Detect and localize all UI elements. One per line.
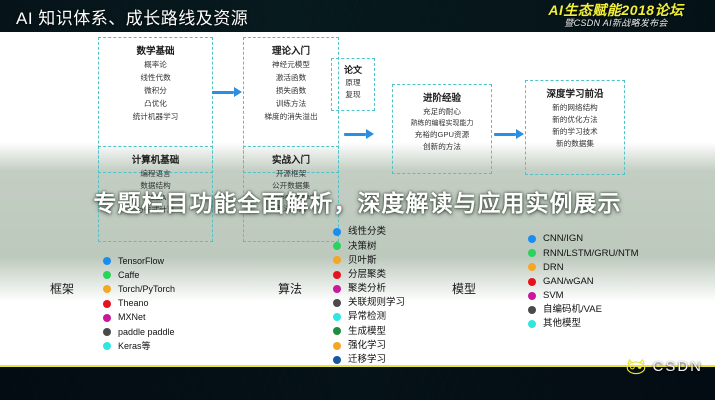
legend-dot-icon — [528, 306, 536, 314]
legend-dot-icon — [528, 235, 536, 243]
group-label-frameworks: 框架 — [50, 280, 74, 297]
forum-badge: AI生态赋能2018论坛 暨CSDN AI新战略发布会 — [523, 1, 709, 32]
legend-dot-icon — [333, 327, 341, 335]
flow-box-paper-reproduce: 论文 原理 复现 — [331, 58, 375, 111]
legend-item-label: MXNet — [118, 313, 146, 322]
flow-box-item: 训练方法 — [244, 100, 338, 108]
legend-item-label: Theano — [118, 299, 149, 308]
legend-item-label: 聚类分析 — [348, 284, 386, 294]
legend-dot-icon — [103, 271, 111, 279]
legend-dot-icon — [333, 299, 341, 307]
legend-dot-icon — [333, 228, 341, 236]
forum-subtitle: 暨CSDN AI新战略发布会 — [523, 19, 709, 28]
flow-box-item: 复现 — [332, 91, 374, 99]
legend-item-label: TensorFlow — [118, 257, 164, 266]
flow-box-item: 原理 — [332, 79, 374, 87]
flow-box-title: 实战入门 — [244, 152, 338, 166]
top-banner: AI 知识体系、成长路线及资源 AI生态赋能2018论坛 暨CSDN AI新战略… — [0, 0, 715, 32]
flow-box-deep-learning-frontier: 深度学习前沿 新的网络结构 新的优化方法 新的学习技术 新的数据集 — [525, 80, 625, 175]
legend-item: 关联规则学习 — [333, 296, 405, 310]
legend-item: 贝叶斯 — [333, 253, 405, 267]
legend-item-label: Torch/PyTorch — [118, 285, 175, 294]
legend-item-label: 迁移学习 — [348, 355, 386, 365]
csdn-logo: CSDN — [625, 358, 703, 375]
legend-item: SVM — [528, 289, 639, 303]
legend-dot-icon — [528, 320, 536, 328]
legend-item-label: 贝叶斯 — [348, 256, 377, 266]
csdn-cat-icon — [625, 359, 647, 375]
group-label-models: 模型 — [452, 280, 476, 297]
screenshot-root: AI 知识体系、成长路线及资源 AI生态赋能2018论坛 暨CSDN AI新战略… — [0, 0, 715, 400]
legend-item-label: Caffe — [118, 271, 139, 280]
legend-item: Caffe — [103, 268, 175, 282]
flow-box-title: 数学基础 — [99, 43, 212, 57]
legend-dot-icon — [333, 256, 341, 264]
flow-box-title: 论文 — [332, 63, 374, 76]
legend-item-label: 异常检测 — [348, 312, 386, 322]
arrow-math-to-theory — [212, 85, 242, 99]
legend-item: paddle paddle — [103, 325, 175, 339]
legend-models: CNN/IGNRNN/LSTM/GRU/NTMDRNGAN/wGANSVM自编码… — [528, 232, 639, 331]
legend-frameworks: TensorFlowCaffeTorch/PyTorchTheanoMXNetp… — [103, 254, 175, 353]
legend-dot-icon — [333, 313, 341, 321]
legend-item-label: 其他模型 — [543, 319, 581, 329]
legend-item: DRN — [528, 260, 639, 274]
flow-box-item: 新的数据集 — [526, 140, 624, 148]
flow-box-item: 梯度的消失溢出 — [244, 113, 338, 121]
flow-box-title: 理论入门 — [244, 43, 338, 57]
legend-item-label: Keras等 — [118, 342, 151, 351]
legend-item: Torch/PyTorch — [103, 282, 175, 296]
legend-dot-icon — [333, 271, 341, 279]
legend-item-label: RNN/LSTM/GRU/NTM — [543, 249, 639, 259]
flow-box-item: 新的网络结构 — [526, 104, 624, 112]
flow-box-item: 充足的耐心 — [393, 108, 491, 116]
legend-item-label: 关联规则学习 — [348, 298, 405, 308]
legend-item-label: paddle paddle — [118, 328, 175, 337]
legend-item: GAN/wGAN — [528, 275, 639, 289]
legend-item: 自编码机/VAE — [528, 303, 639, 317]
legend-item: 聚类分析 — [333, 282, 405, 296]
legend-item-label: SVM — [543, 291, 564, 301]
legend-dot-icon — [528, 249, 536, 257]
legend-item: 强化学习 — [333, 339, 405, 353]
legend-algorithms: 线性分类决策树贝叶斯分层聚类聚类分析关联规则学习异常检测生成模型强化学习迁移学习… — [333, 225, 405, 365]
legend-item-label: 强化学习 — [348, 341, 386, 351]
legend-item-label: CNN/IGN — [543, 234, 583, 244]
flow-box-item: 充裕的GPU资源 — [393, 131, 491, 139]
flow-box-title: 深度学习前沿 — [526, 86, 624, 100]
legend-item-label: DRN — [543, 263, 564, 273]
legend-dot-icon — [103, 285, 111, 293]
flow-box-title: 计算机基础 — [99, 152, 212, 166]
flow-box-item: 微积分 — [99, 87, 212, 95]
legend-item-label: 自编码机/VAE — [543, 305, 602, 315]
legend-item: Keras等 — [103, 339, 175, 353]
legend-item: 生成模型 — [333, 324, 405, 338]
page-title: AI 知识体系、成长路线及资源 — [16, 4, 248, 29]
legend-item-label: GAN/wGAN — [543, 277, 594, 287]
legend-dot-icon — [528, 278, 536, 286]
bottom-tech-strip — [0, 367, 715, 400]
legend-item: TensorFlow — [103, 254, 175, 268]
legend-item: Theano — [103, 297, 175, 311]
legend-dot-icon — [528, 263, 536, 271]
flow-box-item: 激活函数 — [244, 74, 338, 82]
legend-dot-icon — [333, 242, 341, 250]
flow-box-item: 统计机器学习 — [99, 113, 212, 121]
flow-box-item: 线性代数 — [99, 74, 212, 82]
legend-dot-icon — [528, 292, 536, 300]
flow-box-item: 创新的方法 — [393, 143, 491, 151]
legend-item: RNN/LSTM/GRU/NTM — [528, 246, 639, 260]
arrow-advanced-to-frontier — [494, 127, 524, 141]
flow-box-item: 新的学习技术 — [526, 128, 624, 136]
legend-item: 分层聚类 — [333, 268, 405, 282]
legend-item: 线性分类 — [333, 225, 405, 239]
forum-title: AI生态赋能2018论坛 — [523, 3, 709, 17]
flow-box-title: 进阶经验 — [393, 90, 491, 104]
legend-item: 其他模型 — [528, 317, 639, 331]
legend-item-label: 分层聚类 — [348, 270, 386, 280]
overlay-headline: 专题栏目功能全面解析，深度解读与应用实例展示 — [0, 188, 715, 218]
legend-item: 迁移学习 — [333, 353, 405, 365]
legend-item-label: 决策树 — [348, 242, 377, 252]
flow-box-item: 开源框架 — [244, 170, 338, 178]
legend-item: MXNet — [103, 311, 175, 325]
legend-item-label: 线性分类 — [348, 227, 386, 237]
flow-box-item: 熟练的编程实现能力 — [393, 120, 491, 127]
legend-item: 决策树 — [333, 239, 405, 253]
flow-box-item: 神经元模型 — [244, 61, 338, 69]
flow-box-item: 编程语言 — [99, 170, 212, 178]
legend-dot-icon — [103, 314, 111, 322]
legend-dot-icon — [103, 257, 111, 265]
legend-item: 异常检测 — [333, 310, 405, 324]
flow-box-item: 新的优化方法 — [526, 116, 624, 124]
arrow-theory-to-advanced — [344, 127, 374, 141]
legend-dot-icon — [333, 285, 341, 293]
group-label-algorithms: 算法 — [278, 280, 302, 297]
legend-dot-icon — [103, 328, 111, 336]
legend-dot-icon — [333, 342, 341, 350]
legend-dot-icon — [103, 342, 111, 350]
legend-dot-icon — [103, 300, 111, 308]
flow-box-item: 凸优化 — [99, 100, 212, 108]
legend-dot-icon — [333, 356, 341, 364]
flow-box-advanced-experience: 进阶经验 充足的耐心 熟练的编程实现能力 充裕的GPU资源 创新的方法 — [392, 84, 492, 174]
flow-box-item: 损失函数 — [244, 87, 338, 95]
legend-item-label: 生成模型 — [348, 327, 386, 337]
flow-box-item: 概率论 — [99, 61, 212, 69]
csdn-wordmark: CSDN — [652, 358, 703, 375]
legend-item: CNN/IGN — [528, 232, 639, 246]
